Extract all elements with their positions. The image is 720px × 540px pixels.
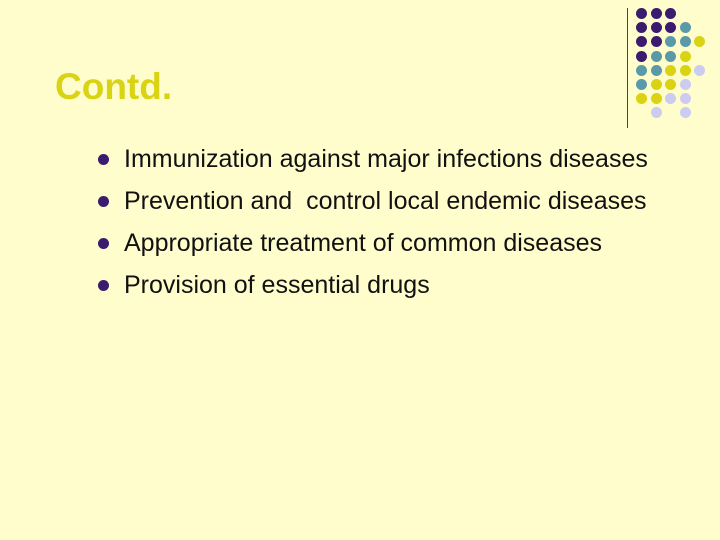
decor-dot-teal	[665, 51, 676, 62]
decor-dot-lavender	[680, 79, 691, 90]
dot-grid-icon	[636, 8, 720, 130]
bullet-list: Immunization against major infections di…	[92, 140, 652, 308]
slide-title: Contd.	[55, 66, 172, 108]
decor-dot-teal	[665, 36, 676, 47]
list-item: Provision of essential drugs	[92, 266, 652, 304]
vertical-rule-divider	[627, 8, 628, 128]
decor-dot-yellow	[665, 65, 676, 76]
list-item-label: Immunization against major infections di…	[124, 140, 652, 178]
list-item: Immunization against major infections di…	[92, 140, 652, 178]
presentation-slide: Contd. Immunization against major infect…	[0, 0, 720, 540]
decor-dot-teal	[680, 36, 691, 47]
decor-dot-purple	[636, 22, 647, 33]
list-item: Prevention and control local endemic dis…	[92, 182, 652, 220]
decor-dot-purple	[665, 8, 676, 19]
decor-dot-purple	[651, 8, 662, 19]
bullet-point-icon	[98, 238, 109, 249]
decor-dot-purple	[665, 22, 676, 33]
decor-dot-teal	[636, 79, 647, 90]
decorative-dot-motif	[620, 0, 720, 135]
decor-dot-yellow	[694, 36, 705, 47]
decor-dot-purple	[651, 36, 662, 47]
decor-dot-teal	[651, 51, 662, 62]
list-item-label: Appropriate treatment of common diseases	[124, 224, 652, 262]
bullet-point-icon	[98, 280, 109, 291]
decor-dot-purple	[636, 8, 647, 19]
decor-dot-yellow	[651, 79, 662, 90]
decor-dot-purple	[636, 51, 647, 62]
decor-dot-yellow	[680, 51, 691, 62]
decor-dot-yellow	[680, 65, 691, 76]
decor-dot-lavender	[680, 93, 691, 104]
list-item: Appropriate treatment of common diseases	[92, 224, 652, 262]
decor-dot-lavender	[651, 107, 662, 118]
decor-dot-yellow	[665, 79, 676, 90]
decor-dot-lavender	[680, 107, 691, 118]
decor-dot-yellow	[651, 93, 662, 104]
decor-dot-teal	[651, 65, 662, 76]
decor-dot-lavender	[694, 65, 705, 76]
decor-dot-purple	[636, 36, 647, 47]
decor-dot-lavender	[665, 93, 676, 104]
list-item-label: Prevention and control local endemic dis…	[124, 182, 652, 220]
decor-dot-teal	[680, 22, 691, 33]
decor-dot-yellow	[636, 93, 647, 104]
bullet-point-icon	[98, 196, 109, 207]
decor-dot-teal	[636, 65, 647, 76]
list-item-label: Provision of essential drugs	[124, 266, 652, 304]
bullet-point-icon	[98, 154, 109, 165]
decor-dot-purple	[651, 22, 662, 33]
